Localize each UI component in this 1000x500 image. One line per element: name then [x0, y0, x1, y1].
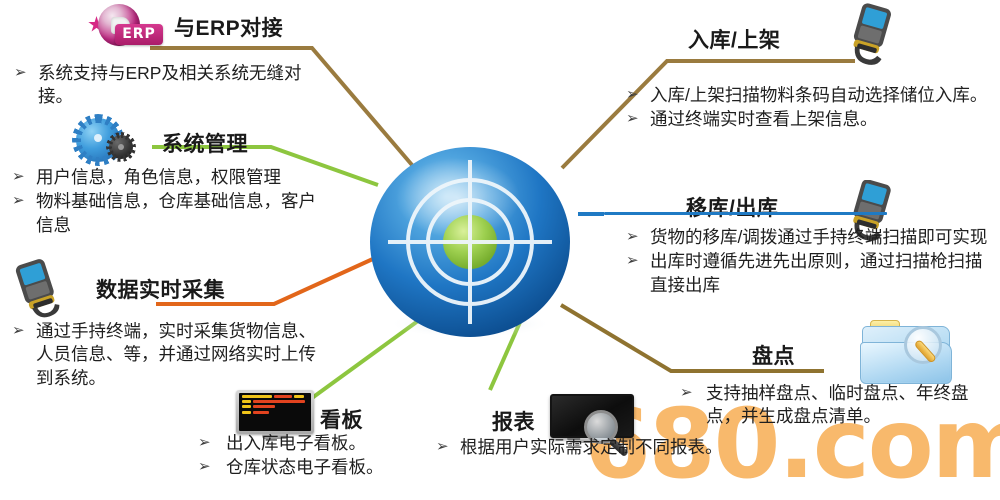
list-item: ➢ 用户信息，角色信息，权限管理 [10, 166, 330, 189]
list-item: ➢ 支持抽样盘点、临时盘点、年终盘点，并生成盘点清单。 [672, 382, 1000, 429]
bullet-text: 出库时遵循先进先出原则，通过扫描枪扫描直接出库 [650, 251, 983, 294]
bullet-text: 出入库电子看板。 [226, 433, 366, 453]
bullet-arrow-icon: ➢ [12, 321, 25, 341]
bullet-text: 用户信息，角色信息，权限管理 [36, 167, 281, 187]
bullet-text: 仓库状态电子看板。 [226, 457, 384, 477]
list-item: ➢ 货物的移库/调拨通过手持终端扫描即可实现 [624, 226, 996, 249]
node-data-collection-title: 数据实时采集 [96, 274, 225, 304]
node-transfer-outbound-rule [604, 212, 887, 215]
bullet-arrow-icon: ➢ [12, 167, 25, 187]
list-item: ➢ 通过终端实时查看上架信息。 [624, 108, 996, 131]
erp-sphere-icon: ERP [88, 2, 164, 50]
bullet-text: 物料基础信息，仓库基础信息，客户信息 [36, 191, 316, 234]
bullet-arrow-icon: ➢ [680, 383, 693, 403]
bullet-text: 通过手持终端，实时采集货物信息、人员信息、等，并通过网络实时上传到系统。 [36, 321, 316, 388]
node-stocktaking-bullets: ➢ 支持抽样盘点、临时盘点、年终盘点，并生成盘点清单。 [672, 382, 1000, 430]
bullet-arrow-icon: ➢ [14, 63, 27, 83]
gears-icon [76, 118, 138, 168]
node-report-bullets: ➢ 根据用户实际需求定制不同报表。 [434, 436, 734, 460]
bullet-arrow-icon: ➢ [12, 191, 25, 211]
bullet-arrow-icon: ➢ [626, 109, 639, 129]
bullet-text: 系统支持与ERP及相关系统无缝对接。 [38, 63, 301, 106]
node-system-management-bullets: ➢ 用户信息，角色信息，权限管理 ➢ 物料基础信息，仓库基础信息，客户信息 [10, 166, 330, 238]
list-item: ➢ 根据用户实际需求定制不同报表。 [434, 436, 734, 459]
list-item: ➢ 物料基础信息，仓库基础信息，客户信息 [10, 190, 330, 237]
bullet-arrow-icon: ➢ [198, 457, 211, 477]
bullet-text: 入库/上架扫描物料条码自动选择储位入库。 [650, 85, 987, 105]
node-data-collection-bullets: ➢ 通过手持终端，实时采集货物信息、人员信息、等，并通过网络实时上传到系统。 [10, 320, 322, 391]
list-item: ➢ 入库/上架扫描物料条码自动选择储位入库。 [624, 84, 996, 107]
bullet-arrow-icon: ➢ [436, 437, 449, 457]
node-system-management-title: 系统管理 [162, 128, 248, 158]
list-item: ➢ 通过手持终端，实时采集货物信息、人员信息、等，并通过网络实时上传到系统。 [10, 320, 322, 390]
node-report-title: 报表 [492, 406, 535, 436]
node-transfer-outbound-bullets: ➢ 货物的移库/调拨通过手持终端扫描即可实现 ➢ 出库时遵循先进先出原则，通过扫… [624, 226, 996, 298]
list-item: ➢ 出库时遵循先进先出原则，通过扫描枪扫描直接出库 [624, 250, 996, 297]
node-kanban-title: 看板 [320, 404, 363, 434]
node-inbound-title: 入库/上架 [688, 24, 780, 54]
bullet-arrow-icon: ➢ [626, 251, 639, 271]
node-transfer-outbound-title: 移库/出库 [686, 192, 778, 222]
bullet-text: 支持抽样盘点、临时盘点、年终盘点，并生成盘点清单。 [706, 383, 969, 426]
bullet-arrow-icon: ➢ [626, 227, 639, 247]
bullet-text: 通过终端实时查看上架信息。 [650, 109, 878, 129]
bullet-arrow-icon: ➢ [198, 433, 211, 453]
node-erp-title: 与ERP对接 [174, 12, 283, 42]
list-item: ➢ 系统支持与ERP及相关系统无缝对接。 [12, 62, 312, 109]
bullet-arrow-icon: ➢ [626, 85, 639, 105]
node-inbound-bullets: ➢ 入库/上架扫描物料条码自动选择储位入库。 ➢ 通过终端实时查看上架信息。 [624, 84, 996, 133]
handheld-scanner-icon [838, 2, 908, 82]
center-hub [366, 142, 576, 347]
node-stocktaking-title: 盘点 [752, 340, 795, 370]
bullet-text: 货物的移库/调拨通过手持终端扫描即可实现 [650, 227, 987, 247]
bullet-text: 根据用户实际需求定制不同报表。 [460, 437, 723, 457]
erp-badge-label: ERP [115, 24, 163, 45]
node-erp-bullets: ➢ 系统支持与ERP及相关系统无缝对接。 [12, 62, 312, 110]
diagram-canvas: 680.com [0, 0, 1000, 495]
